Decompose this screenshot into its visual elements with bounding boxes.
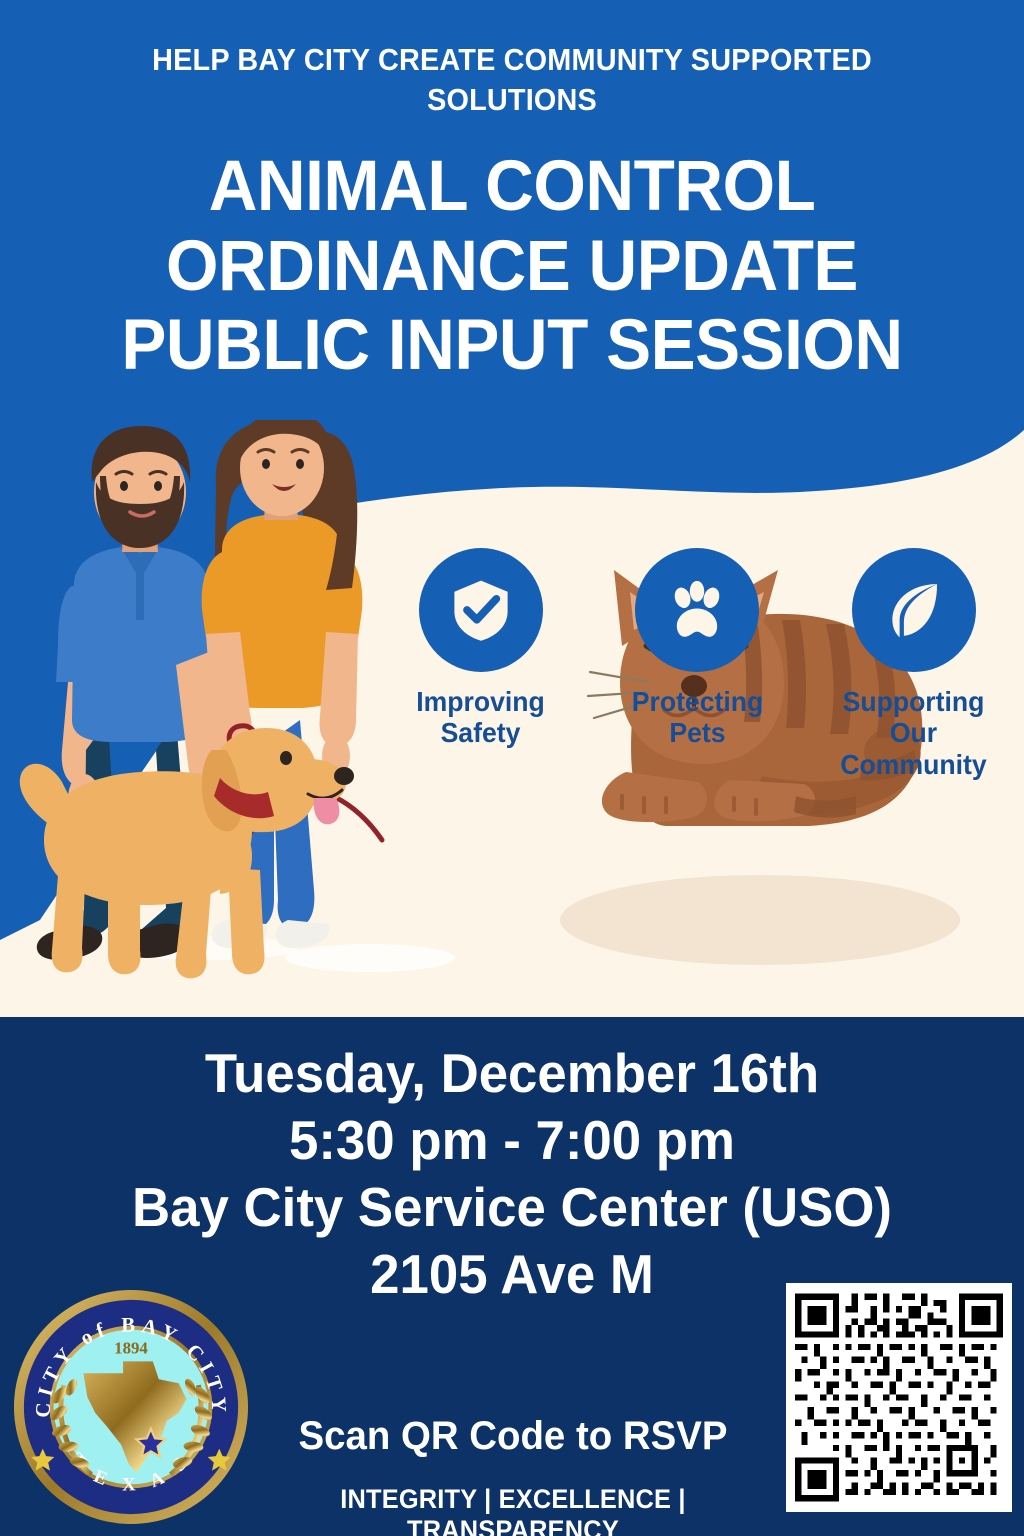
event-venue: Bay City Service Center (USO) [20, 1174, 1003, 1241]
feature-label: Supporting Our Community [816, 686, 1011, 780]
event-date: Tuesday, December 16th [20, 1040, 1003, 1107]
feature-icon-row: Improving Safety Protecting Pets Sup [370, 548, 1024, 788]
cat-shadow [560, 875, 960, 965]
poster: HELP BAY CITY CREATE COMMUNITY SUPPORTED… [0, 0, 1024, 1536]
city-values-line: INTEGRITY | EXCELLENCE | TRANSPARENCY [264, 1484, 762, 1536]
qr-code[interactable] [786, 1283, 1012, 1512]
kicker-text: HELP BAY CITY CREATE COMMUNITY SUPPORTED… [36, 0, 988, 119]
feature-improving-safety: Improving Safety [378, 548, 583, 749]
leaf-icon [852, 548, 976, 672]
event-details: Tuesday, December 16th 5:30 pm - 7:00 pm… [0, 1040, 1024, 1308]
city-seal-logo: CITY of BAY CITY T E X A S 1894 [12, 1288, 250, 1526]
feature-label: Protecting Pets [600, 686, 795, 749]
dog-shadow [285, 944, 455, 972]
feature-supporting-community: Supporting Our Community [811, 548, 1016, 780]
rsvp-instruction: Scan QR Code to RSVP [259, 1414, 768, 1459]
title-line-2: ORDINANCE UPDATE [26, 229, 999, 304]
svg-text:1894: 1894 [114, 1338, 148, 1357]
feature-label: Improving Safety [383, 686, 578, 749]
feature-protecting-pets: Protecting Pets [595, 548, 800, 749]
paw-print-icon [635, 548, 759, 672]
event-time: 5:30 pm - 7:00 pm [20, 1107, 1003, 1174]
headline-block: HELP BAY CITY CREATE COMMUNITY SUPPORTED… [0, 0, 1024, 383]
title-line-1: ANIMAL CONTROL [26, 149, 999, 224]
title-line-3: PUBLIC INPUT SESSION [26, 308, 999, 383]
shield-check-icon [419, 548, 543, 672]
